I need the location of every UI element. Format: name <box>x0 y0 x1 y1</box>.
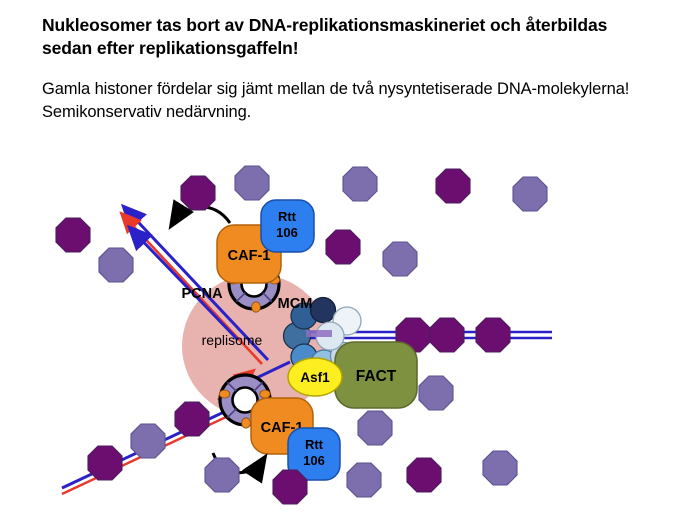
rtt106-lower-label-line1: Rtt <box>305 437 324 452</box>
free-histone-5 <box>513 177 547 211</box>
free-histone-12 <box>483 451 517 485</box>
nucleosome-lower-old-2 <box>88 446 122 480</box>
nucleosome-upper-new-1 <box>99 248 133 282</box>
free-histone-11 <box>407 458 441 492</box>
caf1-upper-label: CAF-1 <box>228 248 271 264</box>
page-title: Nukleosomer tas bort av DNA-replikations… <box>42 14 652 61</box>
free-histone-10 <box>347 463 381 497</box>
free-histone-7 <box>383 242 417 276</box>
free-histone-9 <box>358 411 392 445</box>
rtt106-upper-label-line1: Rtt <box>278 209 297 224</box>
nucleosome-parent-2 <box>476 318 510 352</box>
free-histone-8 <box>419 376 453 410</box>
pcna-label: PCNA <box>181 286 223 302</box>
slide-canvas: Nukleosomer tas bort av DNA-replikations… <box>0 0 694 520</box>
free-histone-3 <box>343 167 377 201</box>
free-histone-4 <box>436 169 470 203</box>
nucleosome-upper-old-1 <box>56 218 90 252</box>
replisome-label: replisome <box>202 332 263 348</box>
replisome-diagram: MCM FACT Asf1 CAF-1 Rtt 106 CAF-1 <box>0 150 694 520</box>
page-subtitle: Gamla histoner fördelar sig jämt mellan … <box>42 78 657 124</box>
nucleosome-parent-1 <box>430 318 464 352</box>
free-histone-6 <box>326 230 360 264</box>
fact-label: FACT <box>356 368 397 385</box>
mcm-label: MCM <box>278 296 313 312</box>
free-histone-13 <box>205 458 239 492</box>
asf1-label: Asf1 <box>300 370 330 385</box>
nucleosome-lower-new-1 <box>131 424 165 458</box>
free-histone-2 <box>235 166 269 200</box>
nucleosome-lower-old-1 <box>175 402 209 436</box>
rtt106-lower-label-line2: 106 <box>303 453 325 468</box>
rtt106-upper-label-line2: 106 <box>276 225 298 240</box>
free-histone-1 <box>181 176 215 210</box>
free-histone-14 <box>273 470 307 504</box>
